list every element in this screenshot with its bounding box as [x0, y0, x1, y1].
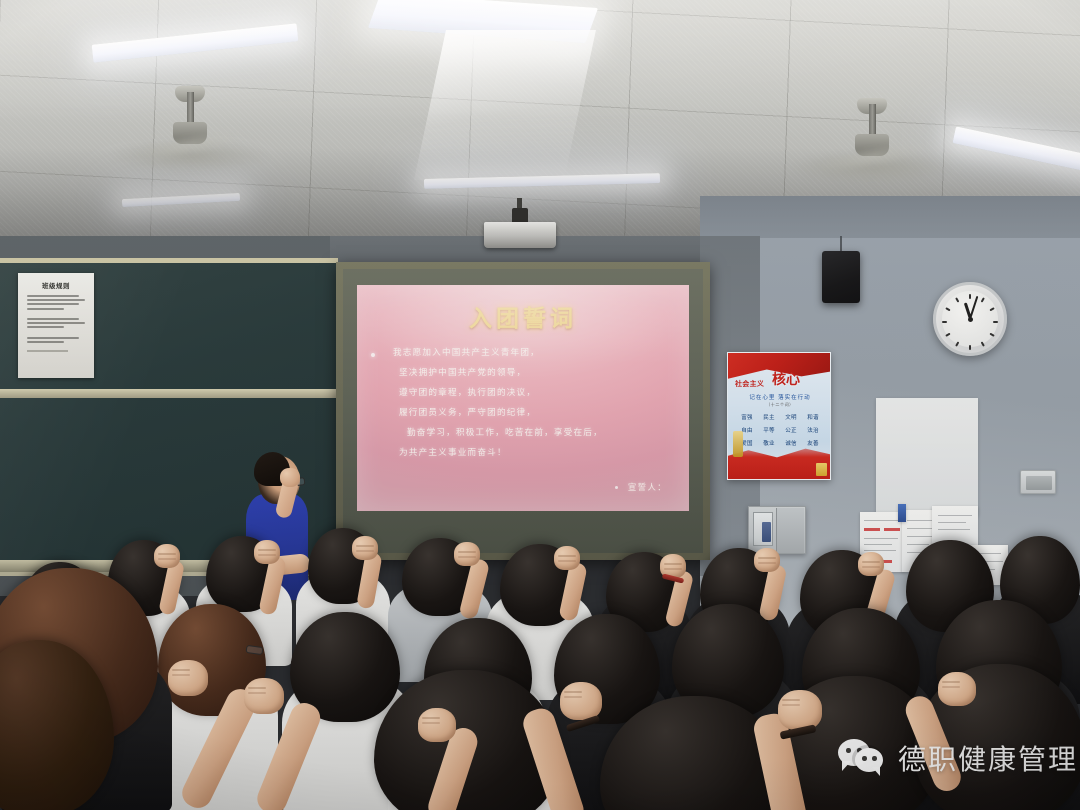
bullet-icon — [371, 353, 375, 357]
wall-clock — [933, 282, 1007, 356]
clock-tick — [993, 321, 998, 323]
core-value: 公正 — [785, 426, 796, 434]
presenter-fist — [280, 468, 300, 487]
core-values-row: 富强 民主 文明 和谐 — [736, 413, 824, 421]
core-value: 敬业 — [763, 439, 774, 447]
signer-label: 宣誓人： — [628, 482, 667, 492]
notice-text-line — [27, 295, 79, 297]
poster-headline: 核心 — [772, 369, 800, 389]
poster-subtitle-2: （十二个词） — [738, 402, 822, 408]
clock-tick — [945, 333, 950, 337]
wechat-eye-dot — [862, 756, 867, 761]
poster-prefix: 社会主义 — [735, 379, 764, 389]
clock-tick — [955, 297, 959, 302]
raised-fist-foreground — [418, 708, 456, 742]
wall-switch[interactable] — [1026, 476, 1052, 490]
oath-line: 为共产主义事业而奋斗！ — [399, 449, 689, 458]
wechat-eye-dot — [846, 748, 851, 753]
core-value: 民主 — [763, 413, 774, 421]
wall-speaker — [822, 251, 860, 303]
raised-fist — [454, 542, 480, 566]
raised-fist-foreground — [560, 682, 602, 720]
blackboard-rail-upper — [0, 389, 338, 398]
notice-text-line — [27, 303, 79, 305]
raised-fist-foreground — [244, 678, 284, 714]
clock-tick — [989, 333, 994, 337]
clock-tick — [945, 307, 950, 311]
fan-downrod — [187, 92, 194, 126]
raised-fist — [554, 546, 580, 570]
core-value: 爱国 — [741, 439, 752, 447]
clock-tick — [955, 341, 959, 346]
slide-signer-line: 宣誓人： — [615, 481, 667, 493]
oath-line: 坚决拥护中国共产党的领导， — [399, 369, 689, 378]
raised-fist-foreground — [938, 672, 976, 706]
fan-downrod — [869, 104, 876, 138]
wechat-bubble-front — [855, 748, 883, 772]
clock-tick — [969, 294, 971, 299]
notice-text-line — [27, 308, 64, 310]
class-rules-notice: 班级规则 — [18, 273, 94, 378]
core-values-row: 爱国 敬业 诚信 友善 — [736, 439, 824, 447]
core-value: 富强 — [741, 413, 752, 421]
core-value: 平等 — [763, 426, 774, 434]
oath-line: 遵守团的章程，执行团的决议， — [399, 389, 689, 398]
notice-text-line — [27, 322, 85, 324]
clock-tick — [981, 341, 985, 346]
clock-tick — [981, 297, 985, 302]
core-value: 友善 — [807, 439, 818, 447]
core-value: 自由 — [741, 426, 752, 434]
raised-fist — [154, 544, 180, 568]
classroom-photo: 班级规则 入团誓词 我志愿加入中国共产主义青年团， 坚决拥护中国共产党的领导， … — [0, 0, 1080, 810]
core-value: 法治 — [807, 426, 818, 434]
clock-face — [942, 291, 998, 347]
notice-text-line — [27, 337, 79, 339]
raised-fist — [858, 552, 884, 576]
notice-text-line — [27, 341, 64, 343]
notice-text-line — [27, 299, 85, 301]
core-values-grid: 富强 民主 文明 和谐 自由 平等 公正 法治 爱国 敬业 诚信 友善 — [736, 413, 824, 452]
poster-badge — [816, 463, 827, 476]
core-values-row: 自由 平等 公正 法治 — [736, 426, 824, 434]
presentation-slide: 入团誓词 我志愿加入中国共产主义青年团， 坚决拥护中国共产党的领导， 遵守团的章… — [357, 285, 689, 511]
clock-center-pin — [968, 317, 973, 322]
raised-fist — [254, 540, 280, 564]
socialist-core-values-poster: 社会主义 核心 记在心里 落实在行动 （十二个词） 富强 民主 文明 和谐 自由… — [727, 352, 831, 480]
slide-title: 入团誓词 — [357, 299, 689, 333]
speaker-cable — [840, 236, 842, 252]
raised-fist — [352, 536, 378, 560]
notice-signature-line — [27, 350, 68, 352]
notice-title: 班级规则 — [24, 280, 88, 290]
raised-fist-foreground — [168, 660, 208, 696]
raised-fist-foreground — [778, 690, 822, 730]
oath-line: 履行团员义务，严守团的纪律， — [399, 409, 689, 418]
notice-text-line — [27, 326, 64, 328]
wall-switch-plate[interactable] — [1020, 470, 1056, 494]
core-value: 文明 — [785, 413, 796, 421]
wechat-logo-icon — [838, 739, 888, 777]
clock-tick — [989, 307, 994, 311]
oath-line: 我志愿加入中国共产主义青年团， — [393, 349, 689, 358]
clock-tick — [942, 321, 947, 323]
core-value: 和谐 — [807, 413, 818, 421]
poster-subtitle: 记在心里 落实在行动 — [738, 393, 822, 401]
wechat-watermark: 德职健康管理 — [838, 738, 1078, 778]
poster-column-emblem — [733, 431, 743, 457]
oath-text-block: 我志愿加入中国共产主义青年团， 坚决拥护中国共产党的领导， 遵守团的章程，执行团… — [371, 349, 689, 458]
notice-text-line — [27, 318, 79, 320]
clock-minute-hand — [969, 296, 978, 319]
bullet-icon — [615, 486, 618, 489]
oath-line: 勤奋学习，积极工作，吃苦在前，享受在后， — [407, 429, 689, 438]
core-value: 诚信 — [785, 439, 796, 447]
clock-tick — [969, 345, 971, 350]
wechat-eye-dot — [872, 756, 877, 761]
watermark-text: 德职健康管理 — [898, 738, 1078, 778]
raised-fist — [754, 548, 780, 572]
ceiling-projector — [484, 222, 556, 248]
